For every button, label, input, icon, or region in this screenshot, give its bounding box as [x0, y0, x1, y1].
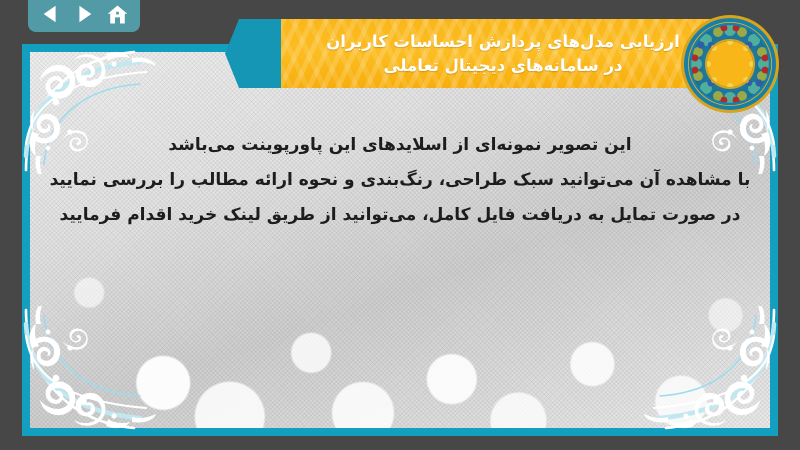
- slide-navigation-bar: [28, 0, 140, 32]
- body-line-2: با مشاهده آن می‌توانید سبک طراحی، رنگ‌بن…: [48, 163, 752, 198]
- body-line-3: در صورت تمایل به دریافت فایل کامل، می‌تو…: [48, 198, 752, 233]
- title-plate: ارزیابی مدل‌های پردازش احساسات کاربران د…: [281, 19, 725, 88]
- slide-body-text: این تصویر نمونه‌ای از اسلایدهای این پاور…: [48, 128, 752, 233]
- previous-slide-button[interactable]: [37, 2, 65, 26]
- slide-viewer: ارزیابی مدل‌های پردازش احساسات کاربران د…: [0, 0, 800, 450]
- title-tab-accent: [225, 19, 283, 88]
- home-button[interactable]: [103, 2, 131, 26]
- triangle-left-icon: [40, 3, 62, 25]
- slide-title-line-1: ارزیابی مدل‌های پردازش احساسات کاربران: [326, 31, 680, 52]
- triangle-right-icon: [73, 3, 95, 25]
- ornamental-medallion: [679, 13, 781, 115]
- body-line-1: این تصویر نمونه‌ای از اسلایدهای این پاور…: [48, 128, 752, 163]
- slide-frame: [22, 44, 778, 436]
- slide-content-panel: [30, 52, 770, 428]
- slide-title-banner: ارزیابی مدل‌های پردازش احساسات کاربران د…: [225, 19, 725, 88]
- next-slide-button[interactable]: [70, 2, 98, 26]
- slide-title-line-2: در سامانه‌های دیجیتال تعاملی: [384, 55, 623, 76]
- home-icon: [106, 3, 129, 26]
